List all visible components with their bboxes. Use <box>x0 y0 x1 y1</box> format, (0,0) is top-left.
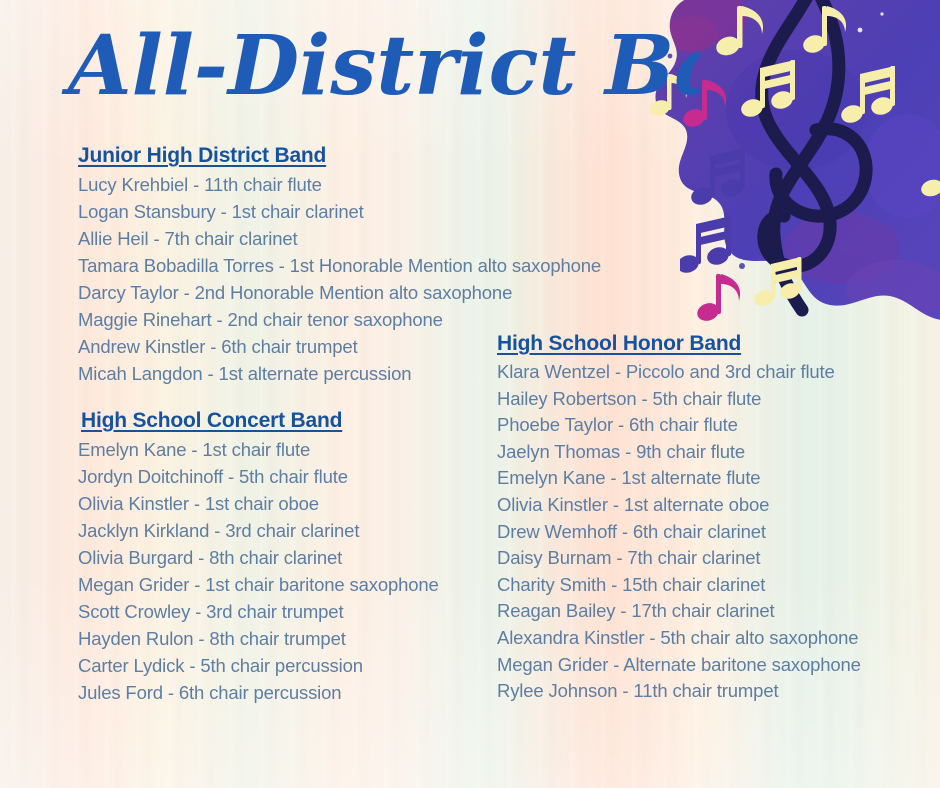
list-item: Drew Wemhoff - 6th chair clarinet <box>497 519 927 546</box>
list-item: Tamara Bobadilla Torres - 1st Honorable … <box>78 252 678 279</box>
list-item: Emelyn Kane - 1st alternate flute <box>497 465 927 492</box>
right-column: High School Honor Band Klara Wentzel - P… <box>497 332 927 705</box>
heading-high-school-honor-band: High School Honor Band <box>497 332 927 356</box>
list-item: Hailey Robertson - 5th chair flute <box>497 386 927 413</box>
list-item: Megan Grider - Alternate baritone saxoph… <box>497 652 927 679</box>
list-item: Logan Stansbury - 1st chair clarinet <box>78 198 678 225</box>
page-title: All-District Band <box>60 6 700 126</box>
list-item: Darcy Taylor - 2nd Honorable Mention alt… <box>78 279 678 306</box>
list-item: Phoebe Taylor - 6th chair flute <box>497 412 927 439</box>
list-item: Alexandra Kinstler - 5th chair alto saxo… <box>497 625 927 652</box>
list-item: Lucy Krehbiel - 11th chair flute <box>78 171 678 198</box>
list-item: Maggie Rinehart - 2nd chair tenor saxoph… <box>78 306 678 333</box>
member-list-honor-band: Klara Wentzel - Piccolo and 3rd chair fl… <box>497 359 927 705</box>
heading-junior-high-district-band: Junior High District Band <box>78 144 678 168</box>
list-item: Charity Smith - 15th chair clarinet <box>497 572 927 599</box>
poster-canvas: All-District Band Junior High District B… <box>0 0 940 788</box>
list-item: Jaelyn Thomas - 9th chair flute <box>497 439 927 466</box>
list-item: Olivia Kinstler - 1st alternate oboe <box>497 492 927 519</box>
list-item: Klara Wentzel - Piccolo and 3rd chair fl… <box>497 359 927 386</box>
list-item: Allie Heil - 7th chair clarinet <box>78 225 678 252</box>
page-title-text: All-District Band <box>61 18 700 114</box>
list-item: Rylee Johnson - 11th chair trumpet <box>497 678 927 705</box>
list-item: Daisy Burnam - 7th chair clarinet <box>497 545 927 572</box>
section-high-school-honor-band: High School Honor Band Klara Wentzel - P… <box>497 332 927 705</box>
list-item: Reagan Bailey - 17th chair clarinet <box>497 598 927 625</box>
